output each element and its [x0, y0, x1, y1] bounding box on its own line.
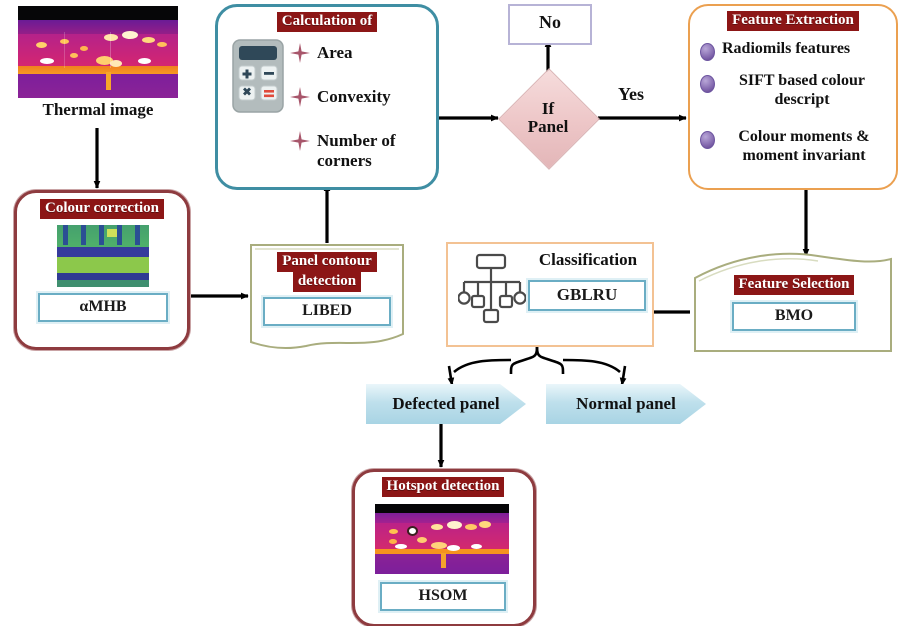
oval-bullet-icon	[700, 43, 715, 61]
decision-line1: If	[542, 99, 554, 118]
node-feature-extraction[interactable]: Feature Extraction Radiomils features SI…	[688, 4, 898, 190]
edge-to-defected	[449, 366, 452, 385]
edge-label-yes: Yes	[618, 84, 644, 105]
decision-label: If Panel	[508, 100, 588, 136]
classification-title: Classification	[528, 250, 648, 270]
output-normal-panel[interactable]: Normal panel	[546, 384, 706, 424]
feature-extraction-item-label: Colour moments & moment invariant	[722, 128, 886, 166]
calculator-icon	[232, 39, 284, 113]
node-classification[interactable]: Classification GBLRU	[446, 242, 654, 347]
calculation-item-label: Number of corners	[317, 131, 427, 170]
node-no-box[interactable]: No	[508, 4, 592, 45]
sparkle-icon	[290, 131, 310, 156]
output-defected-panel[interactable]: Defected panel	[366, 384, 526, 424]
node-feature-selection[interactable]: Feature Selection BMO	[692, 250, 894, 354]
panel-contour-title-line2: detection	[293, 272, 361, 292]
calculation-title: Calculation of	[277, 12, 377, 32]
feature-selection-method[interactable]: BMO	[732, 302, 856, 331]
feature-extraction-item-0: Radiomils features	[700, 40, 890, 61]
edge-classification-split-left	[511, 343, 537, 374]
calculation-item-1: Convexity	[290, 87, 432, 112]
node-hotspot-detection[interactable]: Hotspot detection HSOM	[352, 469, 536, 626]
calculation-item-2: Number of corners	[290, 131, 436, 170]
feature-extraction-item-label: SIFT based colour descript	[722, 72, 882, 110]
feature-extraction-item-2: Colour moments & moment invariant	[700, 128, 892, 166]
calculation-item-0: Area	[290, 43, 432, 68]
classification-method[interactable]: GBLRU	[528, 280, 646, 311]
sparkle-icon	[290, 87, 310, 112]
normal-panel-label: Normal panel	[576, 394, 676, 414]
oval-bullet-icon	[700, 131, 715, 149]
thermal-image	[18, 6, 178, 98]
flowchart-canvas: Thermal image Colour correction αMHB	[0, 0, 900, 626]
node-panel-contour-detection[interactable]: Panel contour detection LIBED	[248, 242, 406, 352]
calculation-item-label: Area	[317, 43, 353, 63]
thermal-image-caption: Thermal image	[18, 100, 178, 120]
feature-extraction-title: Feature Extraction	[727, 11, 859, 31]
feature-extraction-item-1: SIFT based colour descript	[700, 72, 890, 110]
colour-correction-method[interactable]: αMHB	[38, 293, 168, 322]
calculation-item-label: Convexity	[317, 87, 391, 107]
node-calculation[interactable]: Calculation of	[215, 4, 439, 190]
node-colour-correction[interactable]: Colour correction αMHB	[14, 190, 190, 350]
no-label: No	[510, 12, 590, 33]
sparkle-icon	[290, 43, 310, 68]
panel-contour-method[interactable]: LIBED	[263, 297, 391, 326]
defected-panel-label: Defected panel	[392, 394, 499, 414]
edge-to-normal	[622, 366, 625, 385]
colour-correction-title: Colour correction	[40, 199, 164, 219]
colour-corrected-image	[57, 225, 149, 287]
hotspot-detection-method[interactable]: HSOM	[380, 582, 506, 611]
hotspot-detection-title: Hotspot detection	[382, 477, 505, 497]
feature-selection-title: Feature Selection	[734, 275, 855, 295]
feature-extraction-item-label: Radiomils features	[722, 40, 850, 59]
edge-classification-split-right	[537, 343, 563, 374]
hotspot-result-image	[375, 504, 509, 574]
panel-contour-title-line1: Panel contour	[277, 252, 377, 272]
decision-line2: Panel	[528, 117, 569, 136]
oval-bullet-icon	[700, 75, 715, 93]
